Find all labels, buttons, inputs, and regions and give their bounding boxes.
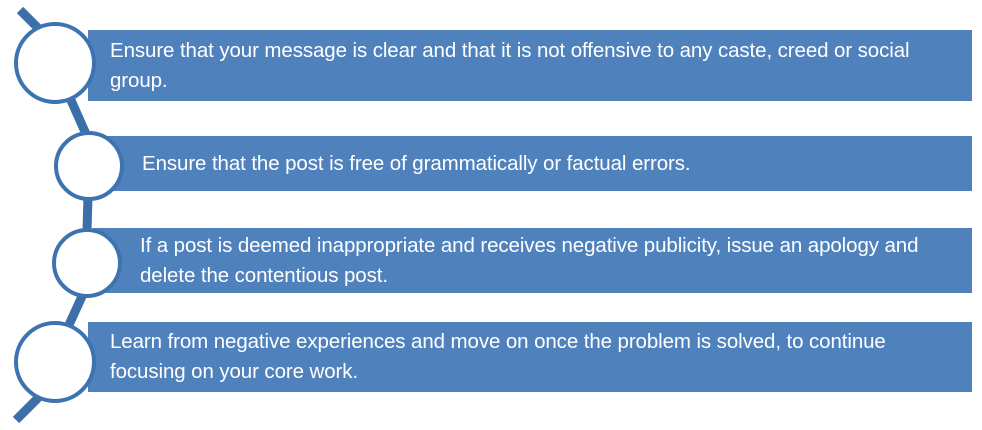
process-infographic: Ensure that your message is clear and th… <box>0 0 982 430</box>
connector-line-2-3 <box>87 196 88 231</box>
step-bar-3[interactable]: If a post is deemed inappropriate and re… <box>93 228 972 293</box>
step-node-circle-2[interactable] <box>54 131 124 201</box>
step-node-circle-1[interactable] <box>14 22 96 104</box>
step-bar-4[interactable]: Learn from negative experiences and move… <box>88 322 972 392</box>
step-bar-2[interactable]: Ensure that the post is free of grammati… <box>95 136 972 191</box>
step-bar-1[interactable]: Ensure that your message is clear and th… <box>88 30 972 101</box>
step-text-1: Ensure that your message is clear and th… <box>88 36 972 96</box>
step-text-3: If a post is deemed inappropriate and re… <box>93 231 972 291</box>
step-text-2: Ensure that the post is free of grammati… <box>95 149 706 179</box>
step-node-circle-3[interactable] <box>52 228 122 298</box>
step-text-4: Learn from negative experiences and move… <box>88 327 972 387</box>
connector-line-1-2 <box>70 98 86 134</box>
step-node-circle-4[interactable] <box>14 321 96 403</box>
